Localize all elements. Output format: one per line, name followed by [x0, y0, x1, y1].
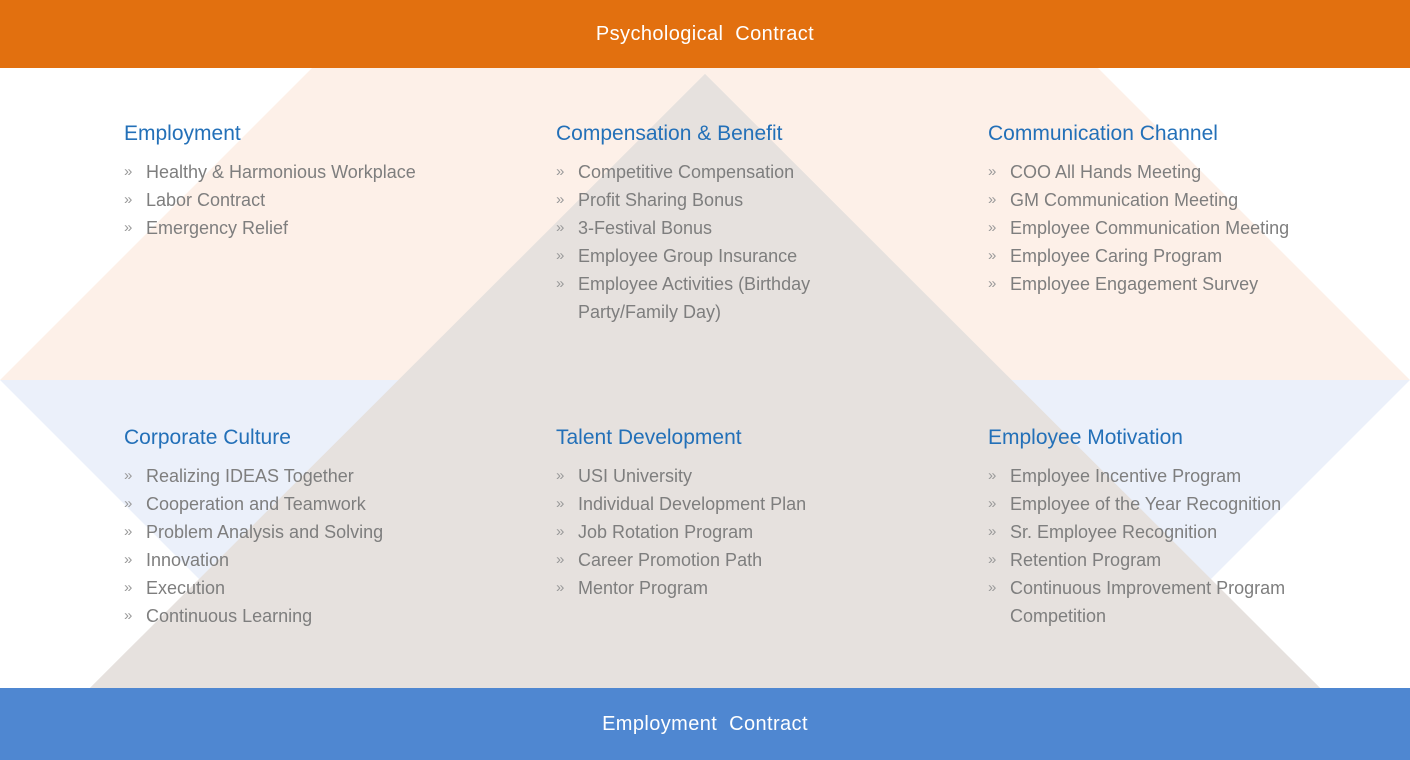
category-employee-motivation: Employee Motivation » Employee Incentive… [988, 426, 1318, 630]
category-item-list: » COO All Hands Meeting » GM Communicati… [988, 158, 1328, 298]
list-item-label: Career Promotion Path [578, 546, 916, 574]
list-item: » Innovation [124, 546, 484, 574]
list-item: » Retention Program [988, 546, 1318, 574]
category-title: Employee Motivation [988, 426, 1318, 450]
bullet-icon: » [556, 270, 578, 298]
slide-canvas: Psychological Contract Employment » Heal… [0, 0, 1410, 760]
list-item: » Individual Development Plan [556, 490, 916, 518]
list-item-label: Job Rotation Program [578, 518, 916, 546]
bullet-icon: » [124, 602, 146, 630]
list-item: » 3-Festival Bonus [556, 214, 846, 242]
category-item-list: » Healthy & Harmonious Workplace » Labor… [124, 158, 484, 242]
list-item-label: USI University [578, 462, 916, 490]
list-item-label: Emergency Relief [146, 214, 484, 242]
list-item: » Healthy & Harmonious Workplace [124, 158, 484, 186]
bullet-icon: » [556, 462, 578, 490]
list-item-label: Competitive Compensation [578, 158, 846, 186]
bullet-icon: » [124, 518, 146, 546]
list-item: » Employee Group Insurance [556, 242, 846, 270]
category-corporate-culture: Corporate Culture » Realizing IDEAS Toge… [124, 426, 484, 630]
bullet-icon: » [988, 462, 1010, 490]
category-title: Communication Channel [988, 122, 1328, 146]
list-item-label: Realizing IDEAS Together [146, 462, 484, 490]
list-item: » Cooperation and Teamwork [124, 490, 484, 518]
bullet-icon: » [124, 490, 146, 518]
category-employment: Employment » Healthy & Harmonious Workpl… [124, 122, 484, 242]
category-item-list: » Realizing IDEAS Together » Cooperation… [124, 462, 484, 630]
list-item: » Problem Analysis and Solving [124, 518, 484, 546]
header-title: Psychological Contract [596, 23, 814, 46]
content-grid: Employment » Healthy & Harmonious Workpl… [0, 68, 1410, 688]
bullet-icon: » [988, 186, 1010, 214]
list-item: » Mentor Program [556, 574, 916, 602]
category-item-list: » USI University » Individual Developmen… [556, 462, 916, 602]
bullet-icon: » [988, 214, 1010, 242]
list-item-label: Employee Caring Program [1010, 242, 1328, 270]
bullet-icon: » [988, 518, 1010, 546]
bullet-icon: » [988, 242, 1010, 270]
list-item: » Employee Engagement Survey [988, 270, 1328, 298]
list-item-label: Profit Sharing Bonus [578, 186, 846, 214]
list-item-label: Sr. Employee Recognition [1010, 518, 1318, 546]
list-item: » Sr. Employee Recognition [988, 518, 1318, 546]
list-item-label: Employee of the Year Recognition [1010, 490, 1318, 518]
list-item: » GM Communication Meeting [988, 186, 1328, 214]
bullet-icon: » [988, 490, 1010, 518]
list-item-label: Continuous Learning [146, 602, 484, 630]
bullet-icon: » [556, 518, 578, 546]
list-item: » Job Rotation Program [556, 518, 916, 546]
list-item-label: Employee Engagement Survey [1010, 270, 1328, 298]
category-title: Talent Development [556, 426, 916, 450]
bullet-icon: » [556, 574, 578, 602]
list-item: » USI University [556, 462, 916, 490]
bullet-icon: » [988, 574, 1010, 602]
list-item-label: COO All Hands Meeting [1010, 158, 1328, 186]
list-item: » Competitive Compensation [556, 158, 846, 186]
category-item-list: » Employee Incentive Program » Employee … [988, 462, 1318, 630]
list-item-label: GM Communication Meeting [1010, 186, 1328, 214]
bullet-icon: » [556, 546, 578, 574]
category-communication-channel: Communication Channel » COO All Hands Me… [988, 122, 1328, 298]
list-item: » COO All Hands Meeting [988, 158, 1328, 186]
bullet-icon: » [988, 270, 1010, 298]
list-item: » Employee Communication Meeting [988, 214, 1328, 242]
list-item: » Profit Sharing Bonus [556, 186, 846, 214]
list-item-label: Employee Activities (Birthday Party/Fami… [578, 270, 846, 326]
list-item-label: Healthy & Harmonious Workplace [146, 158, 484, 186]
list-item: » Continuous Learning [124, 602, 484, 630]
bullet-icon: » [556, 186, 578, 214]
bullet-icon: » [556, 158, 578, 186]
list-item: » Labor Contract [124, 186, 484, 214]
list-item-label: Employee Communication Meeting [1010, 214, 1328, 242]
list-item-label: Employee Incentive Program [1010, 462, 1318, 490]
list-item-label: Innovation [146, 546, 484, 574]
bullet-icon: » [556, 242, 578, 270]
list-item: » Execution [124, 574, 484, 602]
list-item: » Realizing IDEAS Together [124, 462, 484, 490]
category-title: Compensation & Benefit [556, 122, 846, 146]
list-item: » Employee Incentive Program [988, 462, 1318, 490]
list-item: » Emergency Relief [124, 214, 484, 242]
bullet-icon: » [556, 490, 578, 518]
list-item: » Employee Caring Program [988, 242, 1328, 270]
category-compensation-benefit: Compensation & Benefit » Competitive Com… [556, 122, 846, 326]
bullet-icon: » [124, 574, 146, 602]
bullet-icon: » [124, 158, 146, 186]
category-title: Employment [124, 122, 484, 146]
list-item: » Career Promotion Path [556, 546, 916, 574]
list-item: » Employee Activities (Birthday Party/Fa… [556, 270, 846, 326]
category-talent-development: Talent Development » USI University » In… [556, 426, 916, 602]
bullet-icon: » [988, 546, 1010, 574]
list-item-label: Cooperation and Teamwork [146, 490, 484, 518]
bullet-icon: » [124, 214, 146, 242]
list-item-label: 3-Festival Bonus [578, 214, 846, 242]
list-item-label: Employee Group Insurance [578, 242, 846, 270]
footer-title: Employment Contract [602, 713, 808, 736]
list-item: » Employee of the Year Recognition [988, 490, 1318, 518]
list-item-label: Individual Development Plan [578, 490, 916, 518]
bullet-icon: » [124, 546, 146, 574]
list-item-label: Problem Analysis and Solving [146, 518, 484, 546]
bullet-icon: » [988, 158, 1010, 186]
list-item-label: Continuous Improvement Program Competiti… [1010, 574, 1318, 630]
list-item-label: Mentor Program [578, 574, 916, 602]
bullet-icon: » [124, 462, 146, 490]
list-item-label: Labor Contract [146, 186, 484, 214]
bullet-icon: » [124, 186, 146, 214]
header-bar: Psychological Contract [0, 0, 1410, 68]
category-title: Corporate Culture [124, 426, 484, 450]
list-item-label: Execution [146, 574, 484, 602]
category-item-list: » Competitive Compensation » Profit Shar… [556, 158, 846, 326]
list-item: » Continuous Improvement Program Competi… [988, 574, 1318, 630]
list-item-label: Retention Program [1010, 546, 1318, 574]
footer-bar: Employment Contract [0, 688, 1410, 760]
bullet-icon: » [556, 214, 578, 242]
